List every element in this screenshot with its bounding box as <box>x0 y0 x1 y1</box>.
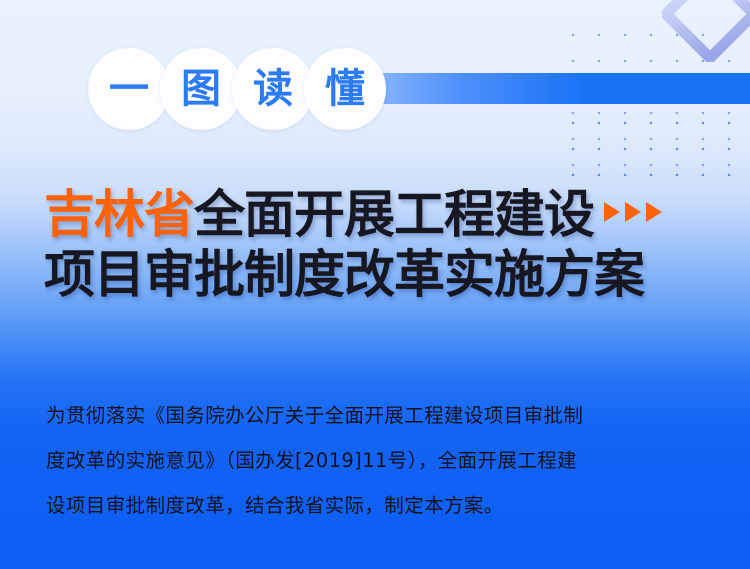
badge-circle-1: 一 <box>88 48 170 130</box>
badge-char-4: 懂 <box>325 69 365 109</box>
title-line-1: 吉林省全面开展工程建设 <box>44 176 744 246</box>
badge-circle-3: 读 <box>232 48 314 130</box>
badge-circle-4: 懂 <box>304 48 386 130</box>
badge-char-2: 图 <box>181 69 221 109</box>
badge-char-3: 读 <box>253 69 293 109</box>
page-title: 吉林省全面开展工程建设 项目审批制度改革实施方案 <box>44 176 744 306</box>
body-line-1: 为贯彻落实《国务院办公厅关于全面开展工程建设项目审批制 <box>46 393 706 438</box>
body-line-3: 设项目审批制度改革，结合我省实际，制定本方案。 <box>46 483 706 528</box>
badge-yitududong: 一 图 读 懂 <box>88 48 376 130</box>
badge-char-1: 一 <box>109 69 149 109</box>
arrow-triangle-icon-3 <box>646 202 662 222</box>
body-line-2: 度改革的实施意见》（国办发[2019]11号），全面开展工程建 <box>46 438 706 483</box>
arrow-group-icon <box>604 176 667 236</box>
title-line-2: 项目审批制度改革实施方案 <box>44 246 744 306</box>
title-line-1-rest: 全面开展工程建设 <box>194 186 594 245</box>
infographic-poster: 一 图 读 懂 吉林省全面开展工程建设 项目审批制度改革实施方案 为贯彻落实《国… <box>0 0 750 569</box>
badge-circle-2: 图 <box>160 48 242 130</box>
diamond-outline-icon <box>662 0 750 62</box>
arrow-triangle-icon-1 <box>604 202 620 222</box>
body-paragraph: 为贯彻落实《国务院办公厅关于全面开展工程建设项目审批制 度改革的实施意见》（国办… <box>46 393 706 528</box>
title-highlight-province: 吉林省 <box>44 186 194 245</box>
arrow-triangle-icon-2 <box>625 202 641 222</box>
